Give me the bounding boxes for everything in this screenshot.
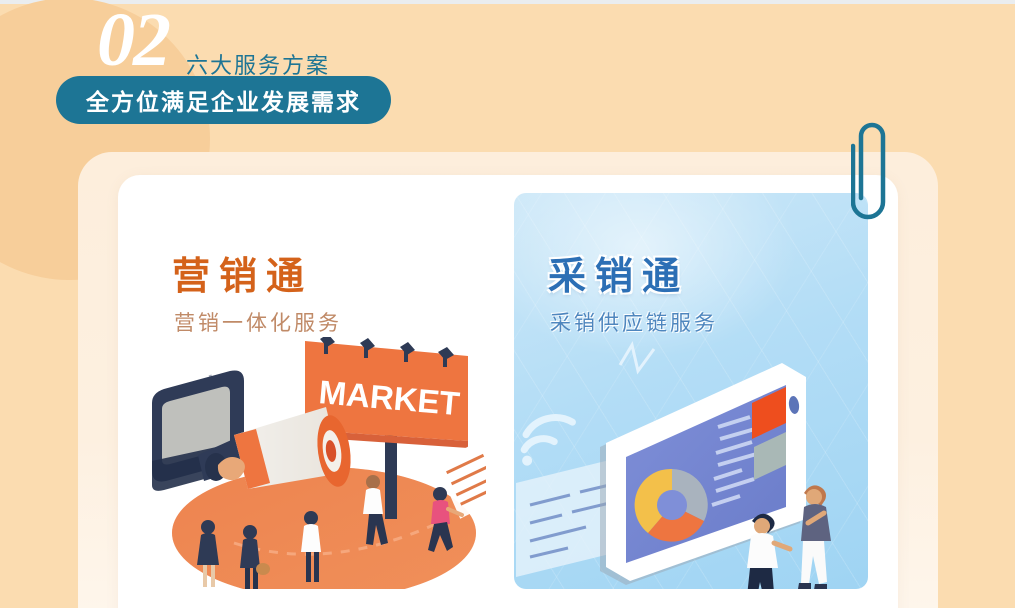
service-subtitle-marketing: 营销一体化服务 (174, 307, 342, 337)
service-tile-marketing[interactable]: 营销通 营销一体化服务 MARKET (138, 193, 486, 589)
section-number: 02 (97, 2, 169, 78)
service-title-marketing: 营销通 (172, 245, 313, 300)
headline-badge-label: 全方位满足企业发展需求 (86, 83, 361, 117)
headline-badge: 全方位满足企业发展需求 (56, 76, 391, 124)
tablet-dashboard-illustration (514, 337, 868, 589)
megaphone-tv-billboard-illustration: MARKET (138, 337, 486, 589)
service-tile-supply[interactable]: 采销通 采销供应链服务 (514, 193, 868, 589)
service-title-supply: 采销通 (548, 245, 689, 300)
paperclip-icon (851, 120, 893, 225)
service-subtitle-supply: 采销供应链服务 (550, 307, 718, 337)
